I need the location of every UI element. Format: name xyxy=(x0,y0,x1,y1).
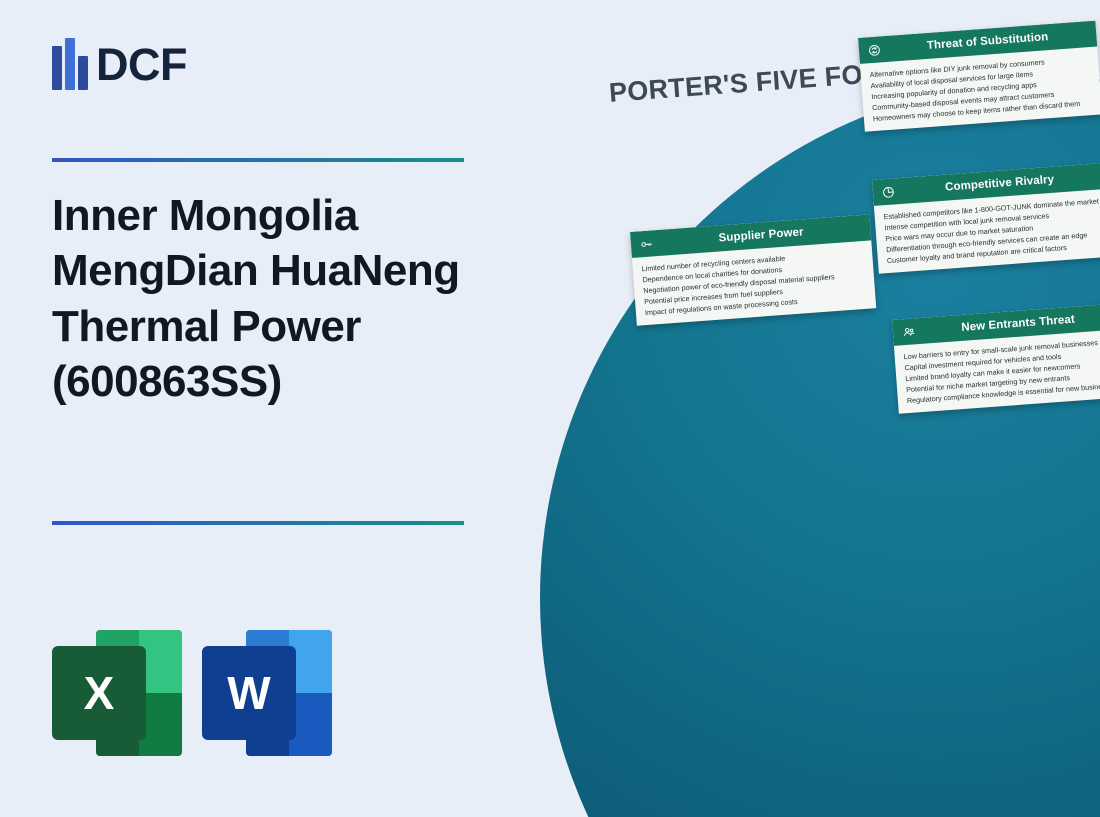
brand-logo: DCF xyxy=(52,38,187,90)
card-new-entrants-threat: New Entrants Threat Low barriers to entr… xyxy=(892,303,1100,413)
brand-logo-text: DCF xyxy=(96,42,187,87)
file-download-icons: X W xyxy=(52,630,332,756)
left-info-panel: DCF Inner Mongolia MengDian HuaNeng Ther… xyxy=(0,0,520,817)
pie-chart-icon xyxy=(881,185,895,199)
refresh-circle-icon xyxy=(867,43,881,57)
divider-bottom xyxy=(52,521,464,525)
card-threat-of-substitution: Threat of Substitution Alternative optio… xyxy=(858,21,1100,132)
word-letter: W xyxy=(202,646,296,740)
page-title: Inner Mongolia MengDian HuaNeng Thermal … xyxy=(52,188,482,410)
excel-letter: X xyxy=(52,646,146,740)
divider-top xyxy=(52,158,464,162)
word-file-icon[interactable]: W xyxy=(202,630,332,756)
people-icon xyxy=(901,325,916,339)
card-competitive-rivalry: Competitive Rivalry Established competit… xyxy=(872,163,1100,274)
excel-file-icon[interactable]: X xyxy=(52,630,182,756)
porters-five-forces-illustration: PORTER'S FIVE FORCES ANALYSIS Threat of … xyxy=(520,0,1100,817)
card-supplier-power: Supplier Power Limited number of recycli… xyxy=(630,214,876,325)
three-bars-logo-icon xyxy=(52,38,86,90)
key-icon xyxy=(639,237,654,251)
